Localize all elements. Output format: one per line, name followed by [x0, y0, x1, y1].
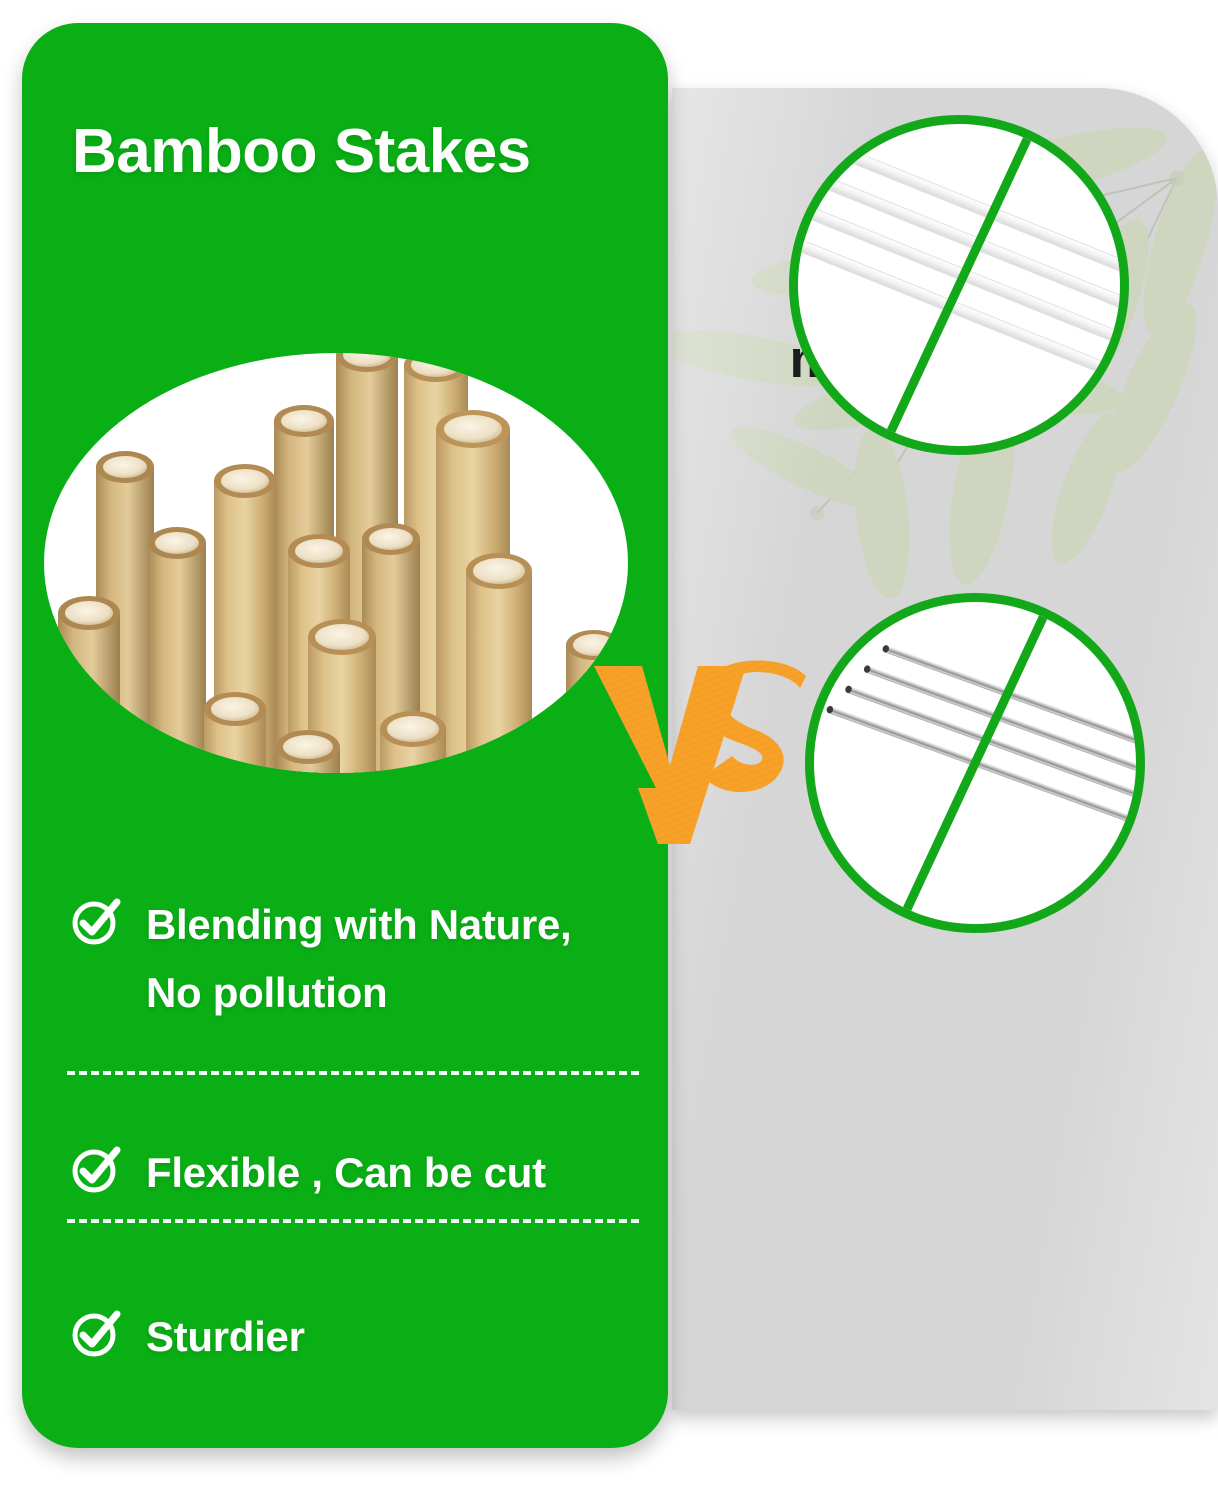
- feature-item-3-text: Sturdier: [146, 1303, 305, 1371]
- check-circle-icon: [70, 1143, 122, 1195]
- feature-item-2: Flexible , Can be cut: [70, 1139, 668, 1207]
- feature-item-1-text: Blending with Nature, No pollution: [146, 891, 571, 1027]
- feature-item-3: Sturdier: [70, 1303, 668, 1371]
- check-circle-icon: [70, 1307, 122, 1359]
- no-entry-circle-metal: [805, 593, 1145, 933]
- no-entry-circle-plastic: [789, 115, 1129, 455]
- feature-item-2-text: Flexible , Can be cut: [146, 1139, 546, 1207]
- comparison-panel-left: Bamboo Stakes: [22, 23, 668, 1448]
- feature-item-1: Blending with Nature, No pollution: [70, 891, 668, 1027]
- feature-divider-2: [67, 1219, 639, 1223]
- infographic-canvas: Plastic or metal stakes: [0, 0, 1218, 1500]
- bamboo-photo-oval: [44, 353, 628, 773]
- feature-divider-1: [67, 1071, 639, 1075]
- bamboo-stakes-photo: [44, 353, 628, 773]
- panel-title-left: Bamboo Stakes: [72, 121, 531, 183]
- comparison-panel-right: Plastic or metal stakes: [672, 88, 1218, 1410]
- check-circle-icon: [70, 895, 122, 947]
- feature-item-1-line2: No pollution: [146, 959, 571, 1027]
- feature-item-1-line1: Blending with Nature,: [146, 891, 571, 959]
